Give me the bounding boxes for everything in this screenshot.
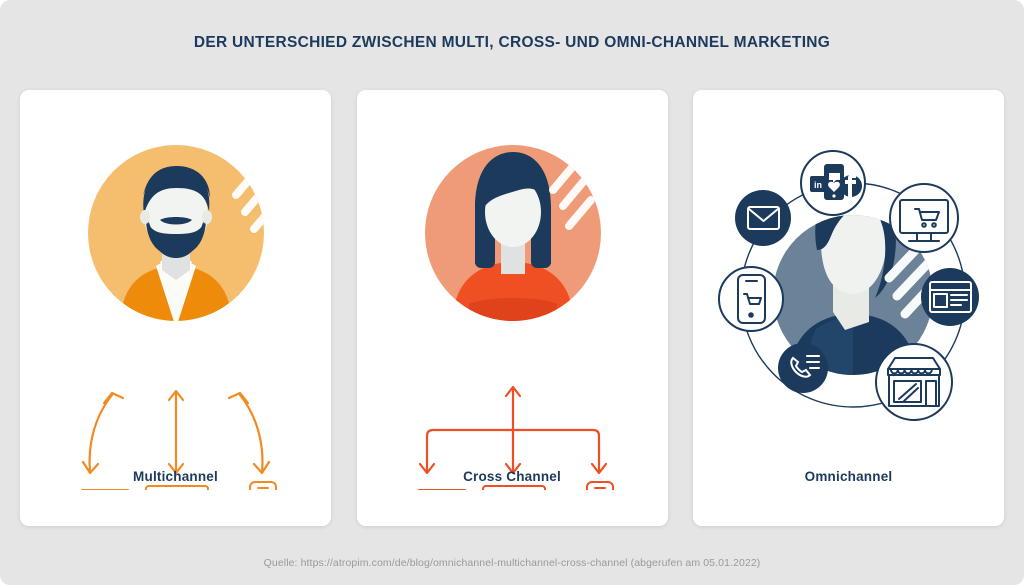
mobile-cart-icon[interactable]: [719, 267, 783, 331]
card-label-crosschannel: Cross Channel: [357, 469, 668, 484]
cards-row: Multichannel: [20, 90, 1004, 526]
source-citation: Quelle: https://atropim.com/de/blog/omni…: [0, 557, 1024, 569]
card-crosschannel[interactable]: Cross Channel: [357, 90, 668, 526]
card-omnichannel[interactable]: in: [693, 90, 1004, 526]
card-label-omnichannel: Omnichannel: [693, 469, 1004, 484]
card-label-multichannel: Multichannel: [20, 469, 331, 484]
svg-text:in: in: [814, 180, 822, 190]
social-media-icon[interactable]: in: [801, 151, 865, 215]
omnichannel-illustration: in: [693, 90, 1004, 490]
desktop-cart-icon: [483, 486, 545, 490]
crosschannel-illustration: [357, 90, 668, 490]
card-multichannel[interactable]: Multichannel: [20, 90, 331, 526]
envelope-icon[interactable]: [735, 190, 791, 246]
infographic-root: DER UNTERSCHIED ZWISCHEN MULTI, CROSS- U…: [0, 0, 1024, 585]
phone-support-icon[interactable]: [778, 343, 828, 393]
store-icon[interactable]: [876, 344, 952, 420]
desktop-cart-icon: [146, 486, 208, 490]
page-title: DER UNTERSCHIED ZWISCHEN MULTI, CROSS- U…: [0, 34, 1024, 52]
crosschannel-connectors: [427, 388, 599, 472]
multichannel-illustration: [20, 90, 331, 490]
desktop-cart-icon[interactable]: [890, 184, 958, 252]
multichannel-connectors: [90, 392, 263, 472]
browser-window-icon[interactable]: [921, 268, 979, 326]
